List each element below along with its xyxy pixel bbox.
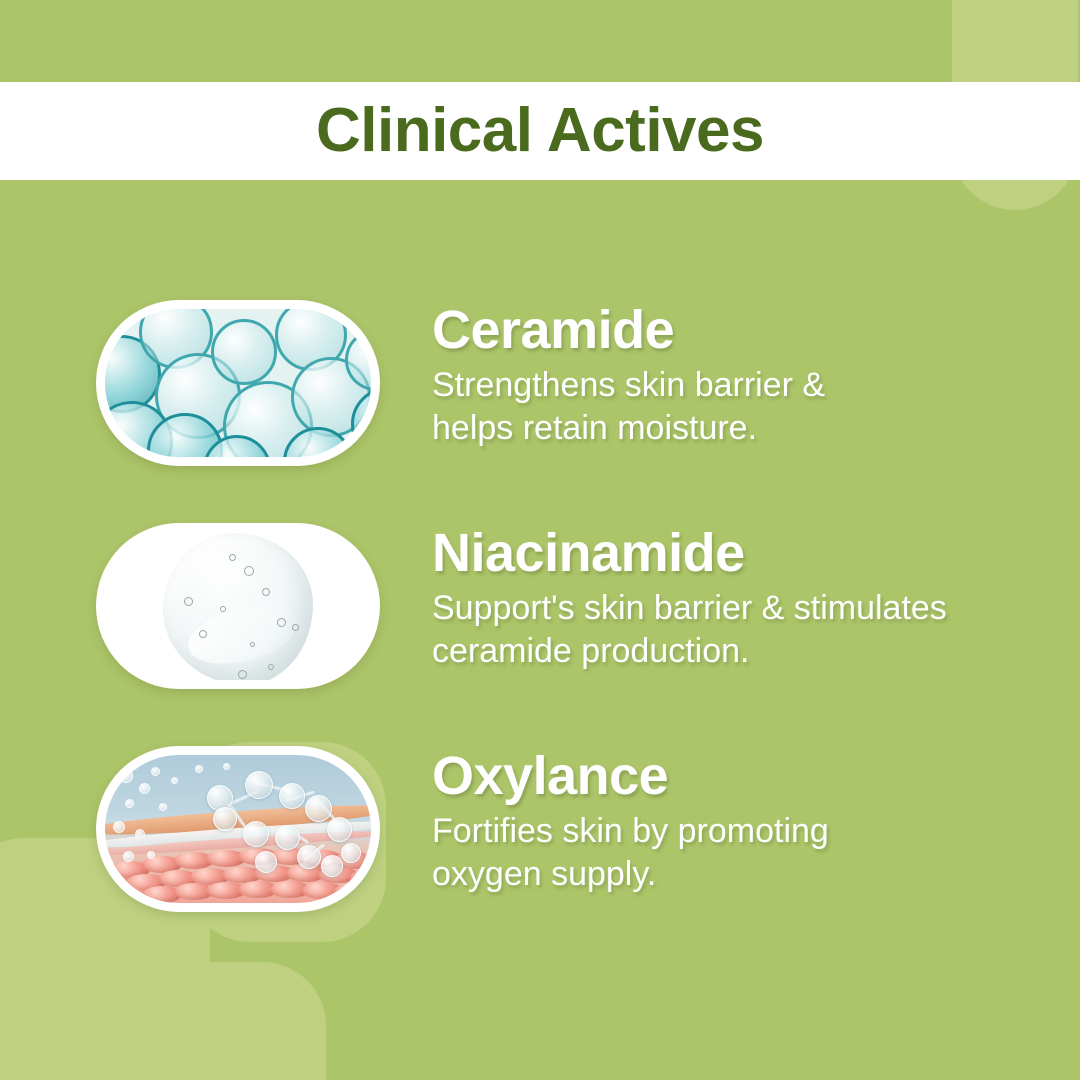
spray-droplet [151,767,160,776]
spray-droplet [125,799,134,808]
spray-droplet [123,851,134,862]
spray-droplet [119,769,133,783]
thumbnail-clip [105,309,371,457]
thumbnail-clip [105,755,371,903]
feature-title: Niacinamide [432,525,1080,581]
feature-row-niacinamide: Niacinamide Support's skin barrier & sti… [96,523,1080,689]
spray-droplet [139,783,150,794]
feature-text-oxylance: Oxylance Fortifies skin by promoting oxy… [380,746,1080,896]
spray-droplet [171,777,178,784]
feature-title: Oxylance [432,748,1080,804]
gel-blob [163,533,313,680]
thumbnail-clip [105,532,371,680]
spray-droplet [113,821,125,833]
feature-row-ceramide: Ceramide Strengthens skin barrier & help… [96,300,1080,466]
clear-gel-drop-image [96,523,380,689]
gel-illustration [105,532,371,680]
infographic-canvas: Clinical Actives [0,0,1080,1080]
feature-text-ceramide: Ceramide Strengthens skin barrier & help… [380,300,1080,450]
feature-row-oxylance: Oxylance Fortifies skin by promoting oxy… [96,746,1080,912]
teal-bubbles-image [96,300,380,466]
spray-droplet [159,803,167,811]
feature-description: Fortifies skin by promoting oxygen suppl… [432,810,1080,896]
feature-title: Ceramide [432,302,1080,358]
feature-text-niacinamide: Niacinamide Support's skin barrier & sti… [380,523,1080,673]
skin-illustration [105,755,371,903]
header-band: Clinical Actives [0,82,1080,180]
page-title: Clinical Actives [316,100,764,162]
spray-droplet [195,765,203,773]
spray-droplet [147,851,155,859]
bubbles-illustration [105,309,371,457]
spray-droplet [135,829,145,839]
spray-droplet [223,763,230,770]
feature-description: Strengthens skin barrier & helps retain … [432,364,1080,450]
skin-layers-molecule-image [96,746,380,912]
feature-description: Support's skin barrier & stimulates cera… [432,587,1080,673]
